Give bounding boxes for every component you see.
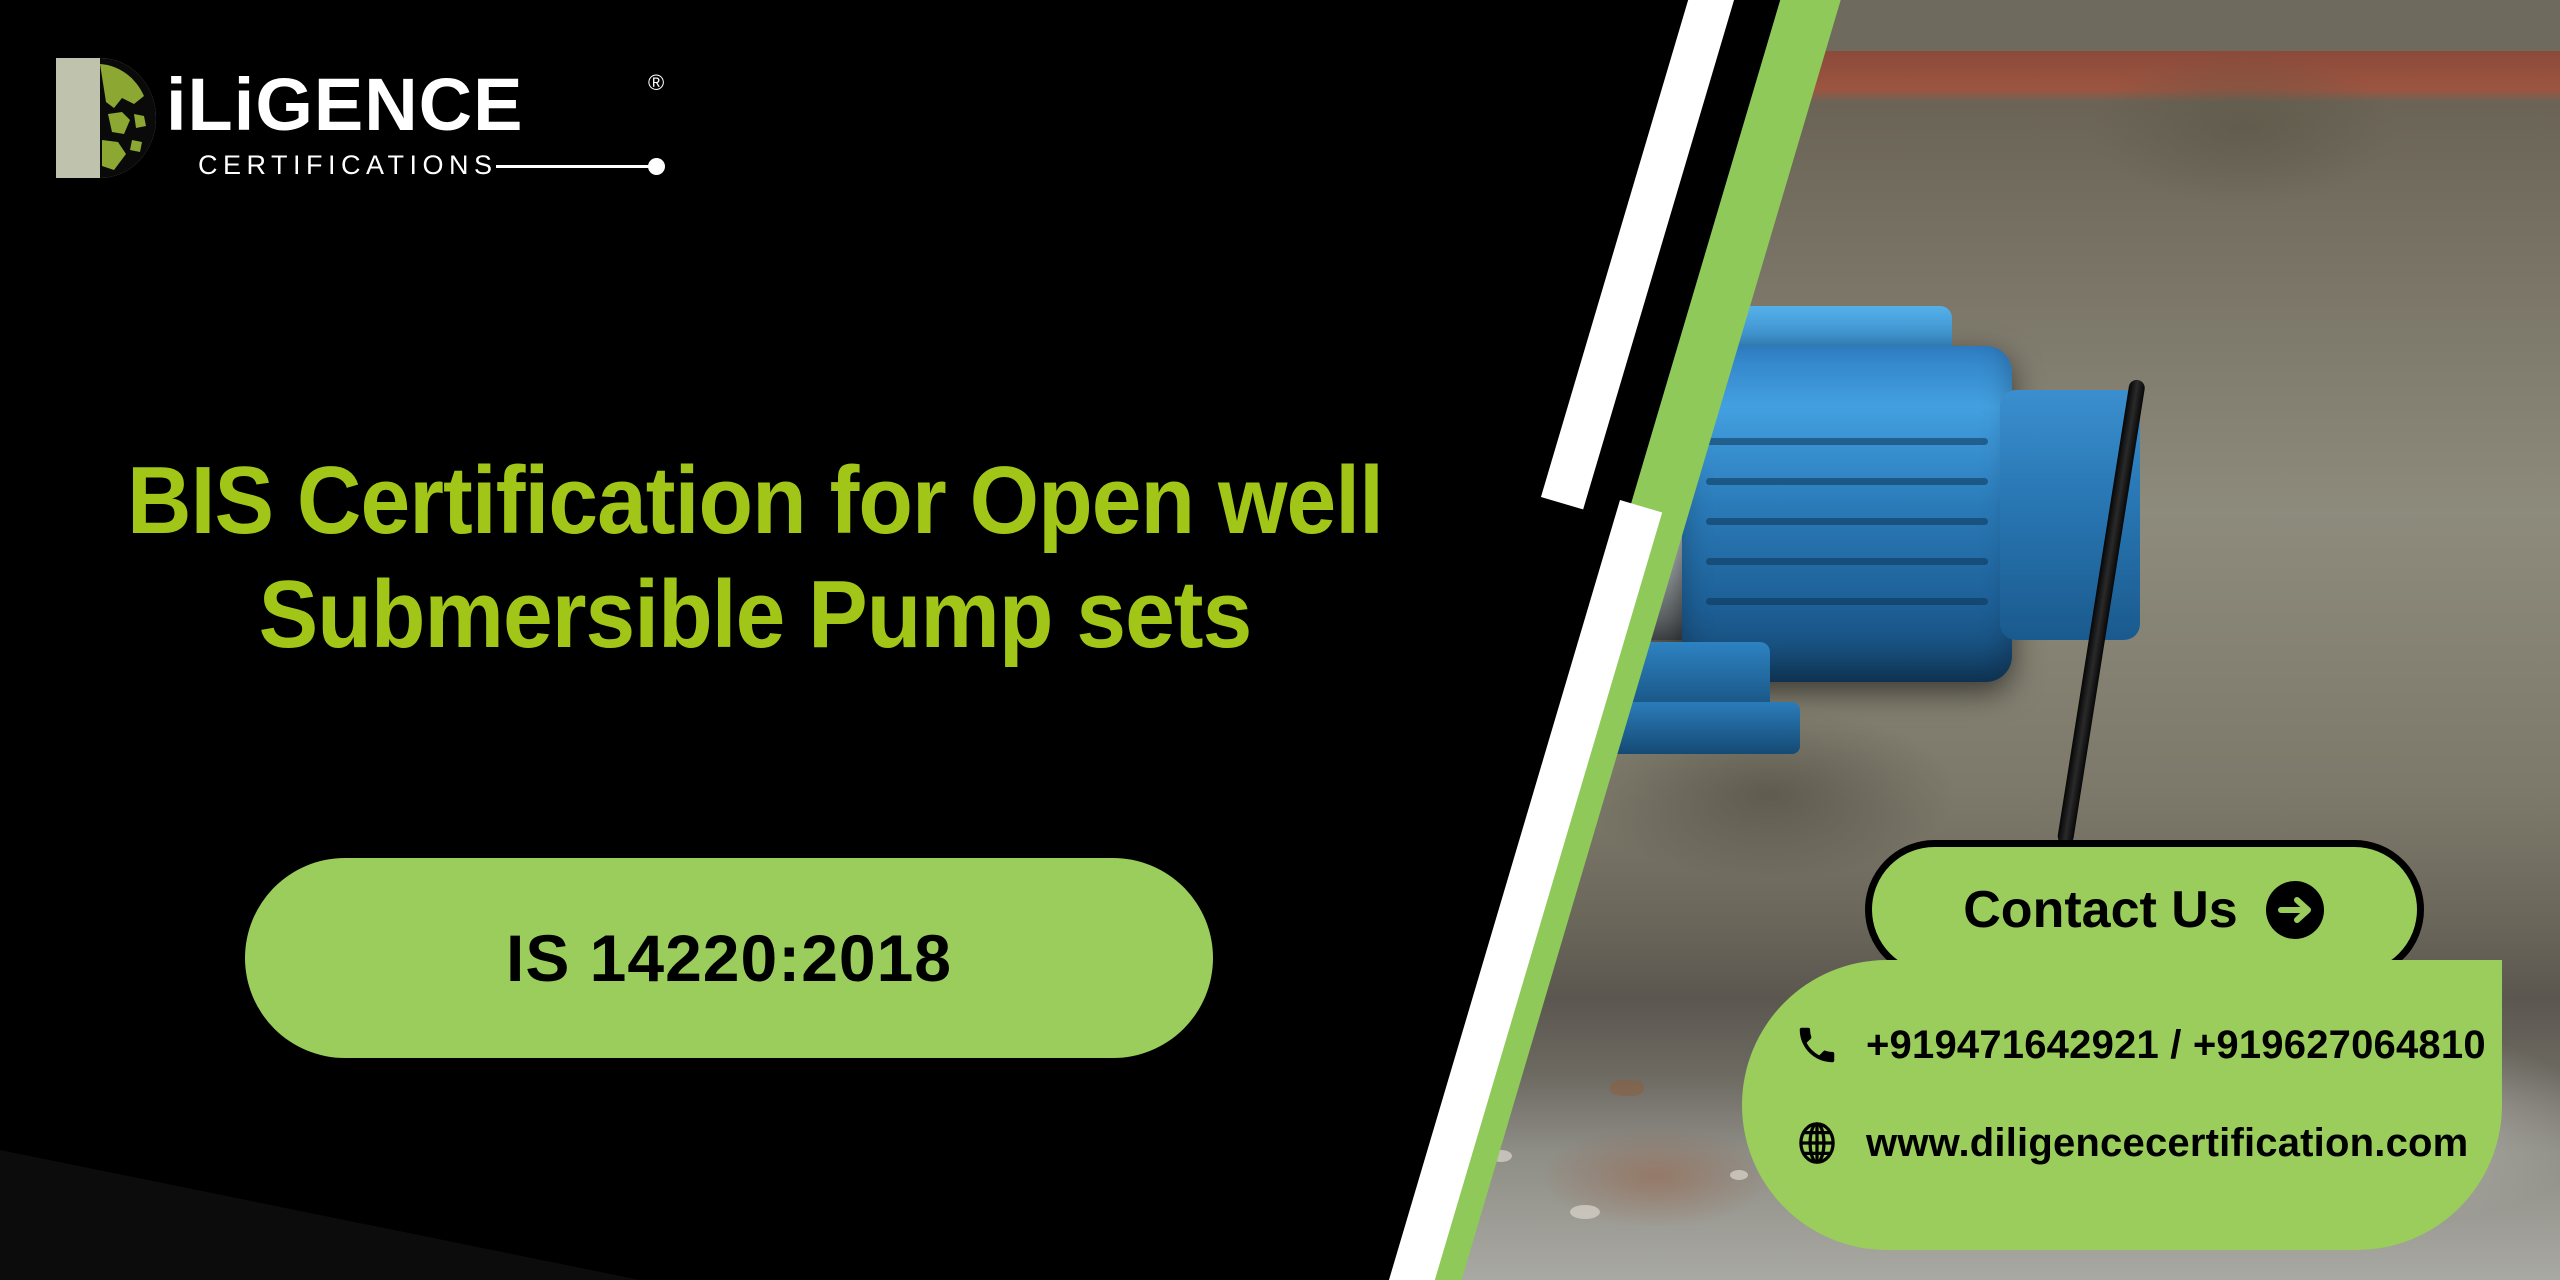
arrow-right-circle-icon [2264,879,2326,941]
globe-d-icon [48,54,166,182]
contact-us-button[interactable]: Contact Us [1865,840,2424,979]
cooling-fin [1706,518,1988,525]
barrel-ring [1495,388,1502,640]
gravel-speck [1610,1080,1644,1096]
corner-wedge [0,1150,640,1280]
cooling-fin [1706,438,1988,445]
logo-subtitle: CERTIFICATIONS [198,152,498,179]
logo-rule [496,165,656,168]
contact-info-card: +919471642921 / +919627064810 www.dilige… [1742,960,2502,1250]
standard-badge-label: IS 14220:2018 [506,920,952,996]
gravel-speck [1570,1205,1600,1219]
promo-banner: iLiGENCE ® CERTIFICATIONS BIS Certificat… [0,0,2560,1280]
contact-us-label: Contact Us [1963,880,2237,940]
motor-housing [1682,346,2012,682]
registered-mark: ® [648,70,664,96]
cooling-fin [1706,558,1988,565]
cooling-fin [1706,478,1988,485]
cooling-fin [1706,598,1988,605]
phone-icon [1794,1022,1840,1068]
logo-wordmark: iLiGENCE [166,68,523,142]
gravel-speck [1730,1170,1748,1180]
contact-row-phone[interactable]: +919471642921 / +919627064810 [1794,1022,2486,1068]
phone-number: +919471642921 / +919627064810 [1866,1023,2486,1068]
contact-row-website[interactable]: www.diligencecertification.com [1794,1120,2468,1166]
globe-icon [1794,1120,1840,1166]
website-url: www.diligencecertification.com [1866,1121,2468,1166]
standard-badge[interactable]: IS 14220:2018 [245,858,1213,1058]
logo-dot [648,158,665,175]
brand-logo[interactable]: iLiGENCE ® CERTIFICATIONS [48,48,668,188]
page-title: BIS Certification for Open well Submersi… [109,444,1402,671]
